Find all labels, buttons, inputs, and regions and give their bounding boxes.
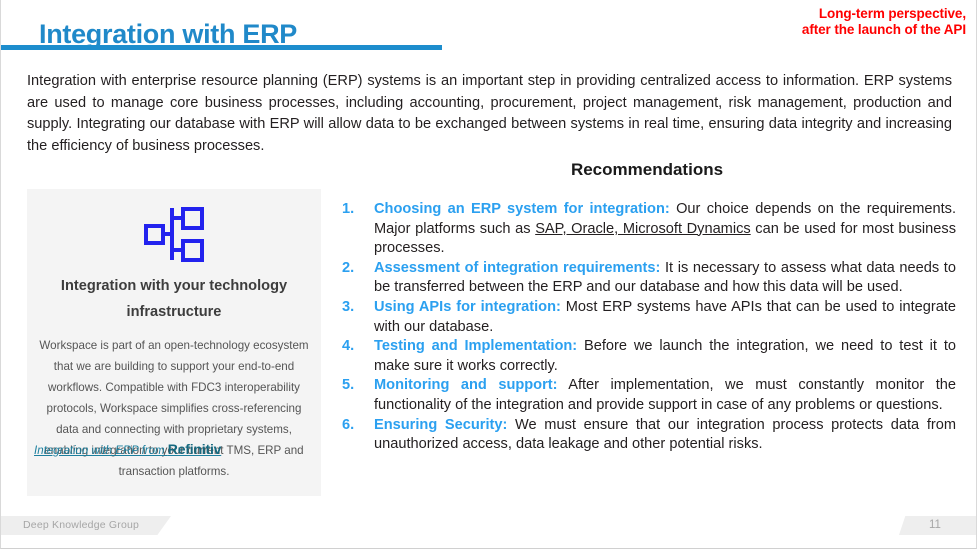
list-item-lead: Assessment of integration requirements: xyxy=(374,260,660,276)
list-item-text: Ensuring Security: We must ensure that o… xyxy=(374,416,956,455)
list-item-lead: Monitoring and support: xyxy=(374,377,558,393)
recommendations-heading: Recommendations xyxy=(342,160,952,180)
page-number: 11 xyxy=(929,519,941,531)
list-item: 6. Ensuring Security: We must ensure tha… xyxy=(342,416,956,455)
card-body-text: Workspace is part of an open-technology … xyxy=(27,335,321,496)
list-item-lead: Ensuring Security: xyxy=(374,417,507,433)
refinitiv-source-link[interactable]: Integration with ERP from Refinitiv xyxy=(34,441,221,457)
list-item: 2. Assessment of integration requirement… xyxy=(342,259,956,298)
list-item-number: 5. xyxy=(342,376,374,396)
list-item: 1. Choosing an ERP system for integratio… xyxy=(342,200,956,259)
list-item-number: 3. xyxy=(342,298,374,318)
list-item-lead: Using APIs for integration: xyxy=(374,299,561,315)
title-underline-rule xyxy=(1,45,442,50)
corner-note: Long-term perspective, after the launch … xyxy=(802,6,966,38)
list-item-number: 1. xyxy=(342,200,374,220)
list-item-lead: Choosing an ERP system for integration: xyxy=(374,201,670,217)
list-item-underlined: SAP, Oracle, Microsoft Dynamics xyxy=(535,221,751,237)
list-item-text: Using APIs for integration: Most ERP sys… xyxy=(374,298,956,337)
list-item-number: 2. xyxy=(342,259,374,279)
hierarchy-infrastructure-icon xyxy=(138,205,210,263)
footer-organization: Deep Knowledge Group xyxy=(23,519,139,531)
list-item-number: 4. xyxy=(342,337,374,357)
list-item-text: Monitoring and support: After implementa… xyxy=(374,376,956,415)
corner-note-line-1: Long-term perspective, xyxy=(802,6,966,22)
card-title: Integration with your technology infrast… xyxy=(27,273,321,335)
list-item: 3. Using APIs for integration: Most ERP … xyxy=(342,298,956,337)
corner-note-line-2: after the launch of the API xyxy=(802,22,966,38)
caption-prefix: Integration with ERP from xyxy=(34,445,168,457)
list-item-text: Testing and Implementation: Before we la… xyxy=(374,337,956,376)
caption-brand: Refinitiv xyxy=(168,441,221,457)
recommendations-list: 1. Choosing an ERP system for integratio… xyxy=(342,200,956,455)
slide-canvas: Long-term perspective, after the launch … xyxy=(0,0,977,549)
list-item-number: 6. xyxy=(342,416,374,436)
intro-paragraph: Integration with enterprise resource pla… xyxy=(27,71,952,157)
list-item: 5. Monitoring and support: After impleme… xyxy=(342,376,956,415)
list-item-text: Choosing an ERP system for integration: … xyxy=(374,200,956,259)
list-item-text: Assessment of integration requirements: … xyxy=(374,259,956,298)
list-item-lead: Testing and Implementation: xyxy=(374,338,577,354)
list-item: 4. Testing and Implementation: Before we… xyxy=(342,337,956,376)
